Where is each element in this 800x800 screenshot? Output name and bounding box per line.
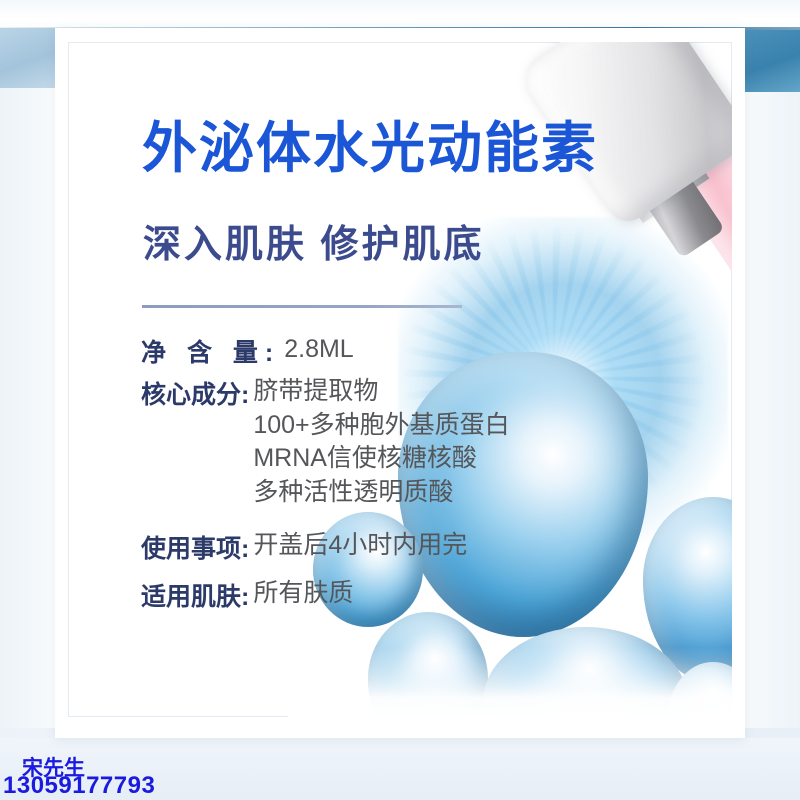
frame-top-strip <box>0 0 800 28</box>
spec-row-core-ingredients: 核心成分: 脐带提取物 100+多种胞外基质蛋白 MRNA信使核糖核酸 多种活性… <box>141 375 541 509</box>
title-divider <box>142 305 462 308</box>
corner-square-top-right <box>738 30 800 92</box>
product-subtitle: 深入肌肤 修护肌底 <box>143 213 485 268</box>
spec-row-usage-notes: 使用事项: 开盖后4小时内用完 <box>141 529 541 565</box>
spec-label: 核心成分: <box>141 375 249 411</box>
spec-value-line: 2.8ML <box>284 333 353 367</box>
spec-value: 所有肤质 <box>253 577 353 611</box>
spec-value: 脐带提取物 100+多种胞外基质蛋白 MRNA信使核糖核酸 多种活性透明质酸 <box>253 375 509 509</box>
product-title: 外泌体水光动能素 <box>142 120 598 178</box>
spec-value-line: MRNA信使核糖核酸 <box>253 442 509 476</box>
product-ad-poster: 外泌体水光动能素 深入肌肤 修护肌底 净 含 量: 2.8ML 核心成分: 脐带… <box>0 0 800 800</box>
spec-value-line: 100+多种胞外基质蛋白 <box>253 409 509 443</box>
spec-row-net-content: 净 含 量: 2.8ML <box>141 333 541 369</box>
spec-value: 开盖后4小时内用完 <box>253 529 467 563</box>
bubble-fade-overlay <box>288 647 732 717</box>
corner-square-top-left <box>0 28 56 88</box>
spec-row-skin-type: 适用肌肤: 所有肤质 <box>141 577 541 613</box>
spec-value-line: 脐带提取物 <box>253 375 509 409</box>
spec-value-line: 所有肤质 <box>253 577 353 611</box>
spec-value: 2.8ML <box>284 333 353 367</box>
spec-label: 适用肌肤: <box>141 577 249 613</box>
spec-value-line: 开盖后4小时内用完 <box>253 529 467 563</box>
product-card: 外泌体水光动能素 深入肌肤 修护肌底 净 含 量: 2.8ML 核心成分: 脐带… <box>55 28 745 738</box>
frame-left-edge <box>0 88 56 728</box>
spec-label: 净 含 量: <box>141 333 280 369</box>
frame-right-edge <box>738 92 800 728</box>
watermark-phone-number: 13059177793 <box>3 772 155 800</box>
spec-list: 净 含 量: 2.8ML 核心成分: 脐带提取物 100+多种胞外基质蛋白 MR… <box>141 333 541 619</box>
spec-value-line: 多种活性透明质酸 <box>253 476 509 510</box>
spec-label: 使用事项: <box>141 529 249 565</box>
